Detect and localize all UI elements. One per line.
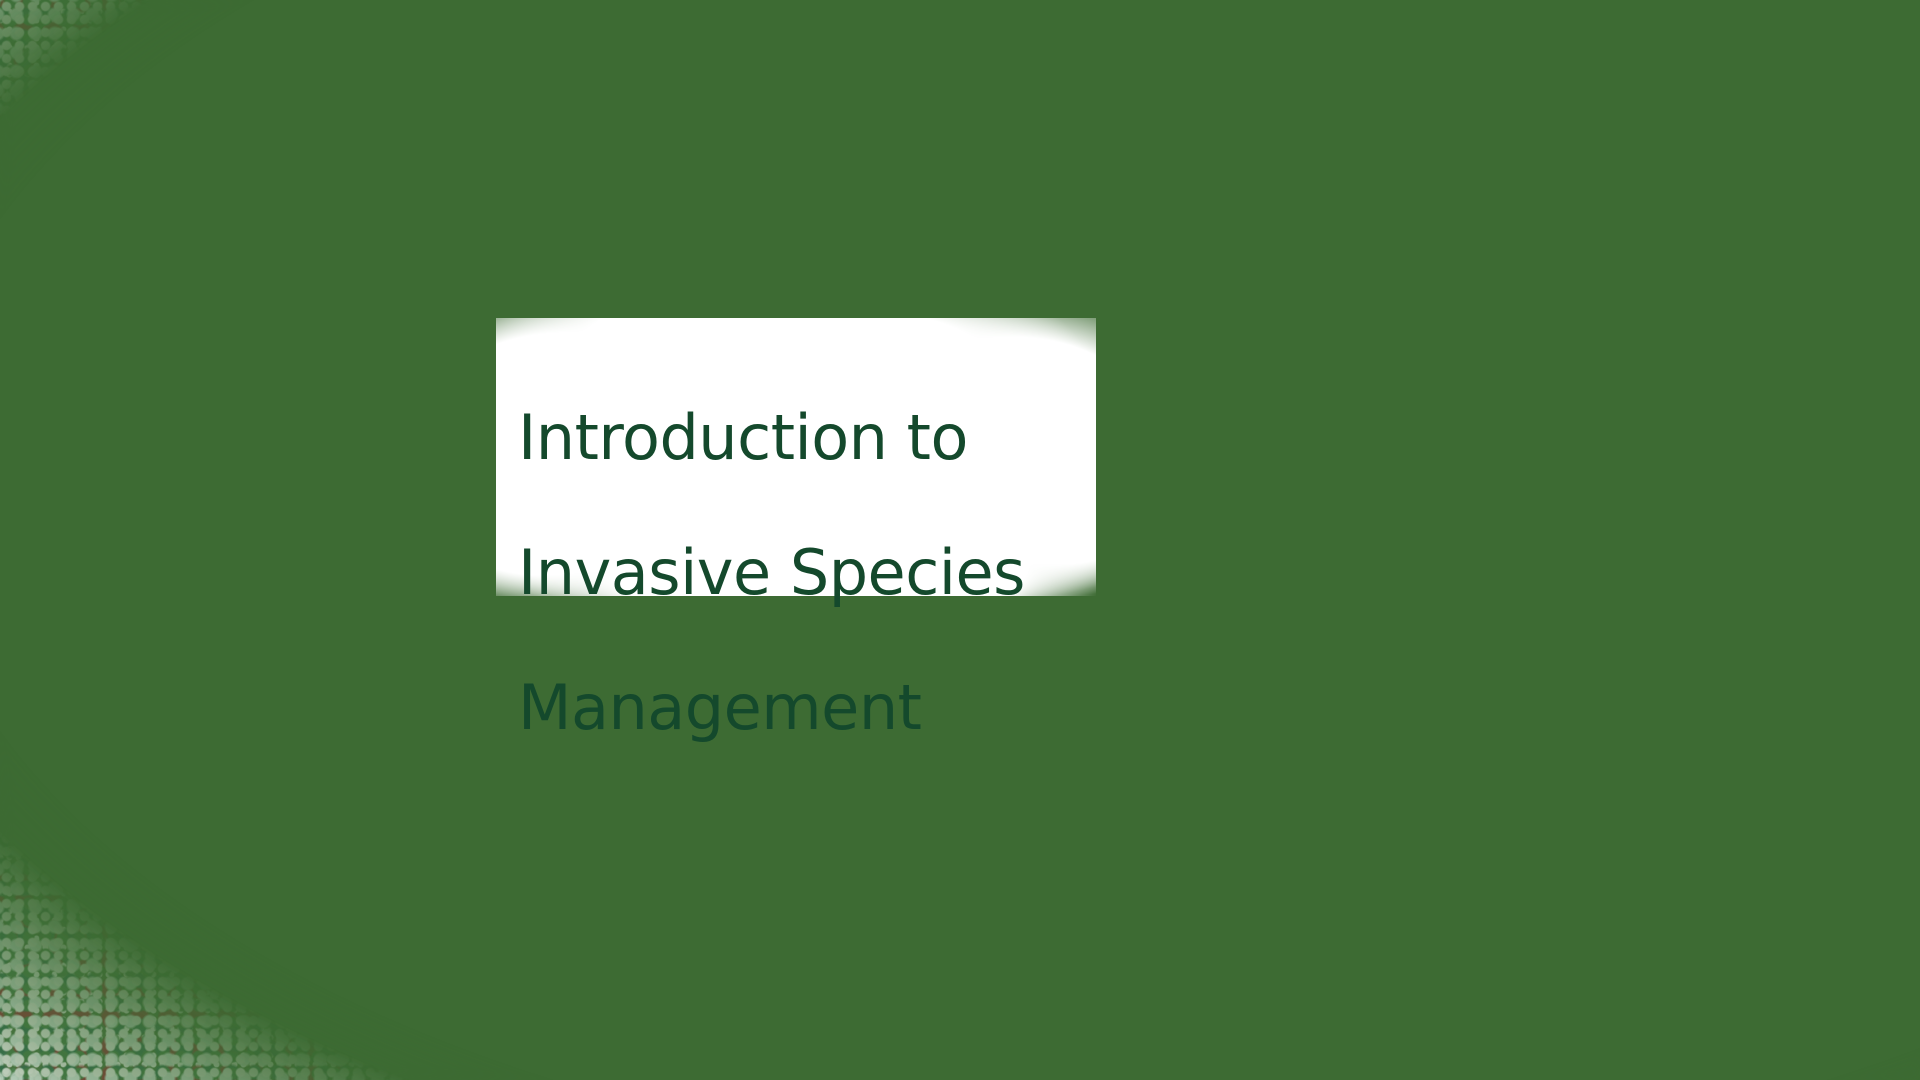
title-line-3: Management [518, 674, 1078, 742]
slide-canvas: Introduction to Invasive Species Managem… [0, 0, 1920, 1080]
title-panel: Introduction to Invasive Species Managem… [496, 318, 1096, 596]
title-line-2: Invasive Species [518, 539, 1078, 607]
page-title: Introduction to Invasive Species Managem… [518, 336, 1078, 809]
title-line-1: Introduction to [518, 404, 1078, 472]
